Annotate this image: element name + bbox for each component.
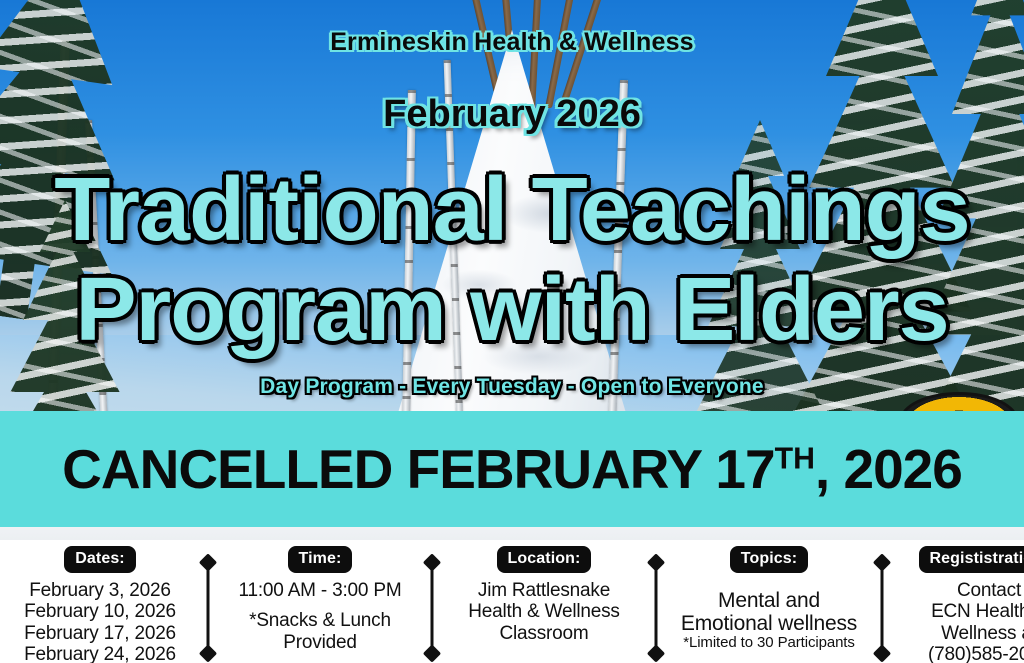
- diamond-icon: [873, 644, 891, 662]
- poster-canvas: Ermineskin Health & Wellness February 20…: [0, 0, 1024, 663]
- info-body-registration: Contact ECN Health & Wellness at (780)58…: [928, 580, 1024, 663]
- list-item: February 10, 2026: [24, 601, 176, 622]
- separator-line: [655, 562, 658, 654]
- info-label-location: Location:: [497, 546, 592, 573]
- spacer: [239, 601, 402, 610]
- list-item: February 3, 2026: [24, 580, 176, 601]
- list-item: *Snacks & Lunch: [239, 610, 402, 631]
- info-body-dates: February 3, 2026 February 10, 2026 Febru…: [24, 580, 176, 663]
- info-column-time: Time: 11:00 AM - 3:00 PM *Snacks & Lunch…: [216, 540, 424, 653]
- list-item: Wellness at: [928, 623, 1024, 644]
- month-heading: February 2026: [0, 93, 1024, 136]
- spacer: [681, 580, 857, 589]
- list-item: Health & Wellness: [468, 601, 620, 622]
- list-item: 11:00 AM - 3:00 PM: [239, 580, 402, 601]
- poster-title-line-2: Program with Elders: [0, 266, 1024, 354]
- cancellation-banner: CANCELLED FEBRUARY 17TH, 2026: [0, 411, 1024, 527]
- list-item: Emotional wellness: [681, 612, 857, 635]
- list-item: February 17, 2026: [24, 623, 176, 644]
- info-label-registration: Regististration:: [919, 546, 1024, 573]
- list-item: ECN Health &: [928, 601, 1024, 622]
- poster-tagline: Day Program - Every Tuesday - Open to Ev…: [0, 375, 1024, 399]
- column-separator: [424, 554, 440, 662]
- info-body-location: Jim Rattlesnake Health & Wellness Classr…: [468, 580, 620, 644]
- info-bar: Dates: February 3, 2026 February 10, 202…: [0, 540, 1024, 663]
- separator-line: [881, 562, 884, 654]
- info-body-topics: Mental and Emotional wellness *Limited t…: [681, 580, 857, 652]
- info-column-dates: Dates: February 3, 2026 February 10, 202…: [0, 540, 200, 663]
- column-separator: [648, 554, 664, 662]
- info-label-time: Time:: [288, 546, 353, 573]
- column-separator: [874, 554, 890, 662]
- list-item: February 24, 2026: [24, 644, 176, 663]
- list-item: Contact: [928, 580, 1024, 601]
- list-item: Provided: [239, 632, 402, 653]
- list-item: *Limited to 30 Participants: [681, 635, 857, 652]
- cancellation-text: CANCELLED FEBRUARY 17TH, 2026: [62, 437, 962, 501]
- info-label-topics: Topics:: [730, 546, 808, 573]
- list-item: Mental and: [681, 589, 857, 612]
- list-item: Jim Rattlesnake: [468, 580, 620, 601]
- info-label-dates: Dates:: [64, 546, 136, 573]
- info-column-registration: Regististration: Contact ECN Health & We…: [890, 540, 1024, 663]
- diamond-icon: [423, 644, 441, 662]
- separator-line: [207, 562, 210, 654]
- poster-title-line-1: Traditional Teachings: [0, 166, 1024, 254]
- organization-name: Ermineskin Health & Wellness: [0, 28, 1024, 57]
- cancellation-suffix: , 2026: [815, 438, 962, 500]
- info-column-topics: Topics: Mental and Emotional wellness *L…: [664, 540, 874, 652]
- info-body-time: 11:00 AM - 3:00 PM *Snacks & Lunch Provi…: [239, 580, 402, 653]
- list-item: Classroom: [468, 623, 620, 644]
- diamond-icon: [199, 644, 217, 662]
- separator-line: [431, 562, 434, 654]
- column-separator: [200, 554, 216, 662]
- cancellation-prefix: CANCELLED FEBRUARY 17: [62, 438, 774, 500]
- ordinal-suffix: TH: [775, 443, 815, 476]
- info-column-location: Location: Jim Rattlesnake Health & Welln…: [440, 540, 648, 644]
- diamond-icon: [647, 644, 665, 662]
- list-item: (780)585-2000: [928, 644, 1024, 663]
